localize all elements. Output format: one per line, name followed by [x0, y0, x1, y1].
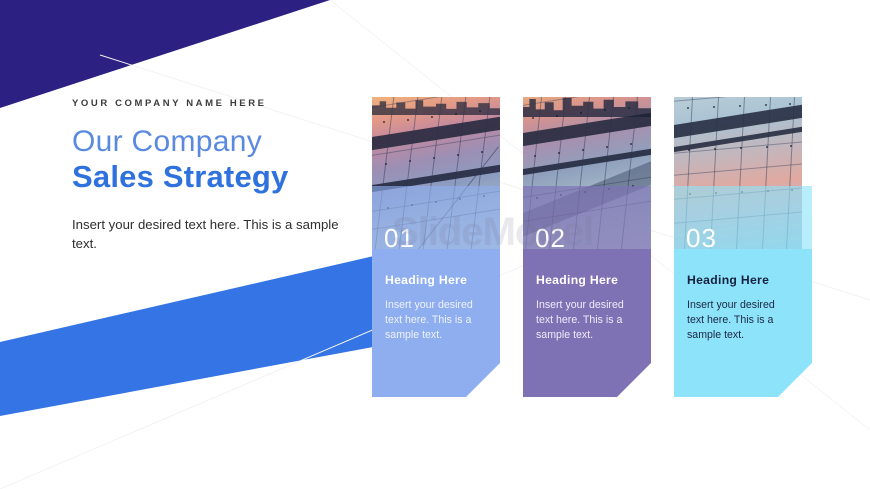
- card-03[interactable]: 03 Heading Here Insert your desired text…: [674, 97, 802, 397]
- cards-row: 01 Heading Here Insert your desired text…: [372, 97, 842, 397]
- card-01-number: 01: [384, 225, 415, 251]
- card-03-heading: Heading Here: [687, 273, 769, 287]
- card-02-number: 02: [535, 225, 566, 251]
- card-02-heading: Heading Here: [536, 273, 618, 287]
- card-02-text: Insert your desired text here. This is a…: [536, 298, 634, 343]
- card-03-number: 03: [686, 225, 717, 251]
- blue-diagonal-band: [0, 250, 400, 420]
- card-01-heading: Heading Here: [385, 273, 467, 287]
- eyebrow-company-name: YOUR COMPANY NAME HERE: [72, 98, 352, 109]
- page-title-line2: Sales Strategy: [72, 161, 352, 194]
- left-text-column: YOUR COMPANY NAME HERE Our Company Sales…: [72, 98, 352, 253]
- slide-canvas: YOUR COMPANY NAME HERE Our Company Sales…: [0, 0, 870, 489]
- card-01-text: Insert your desired text here. This is a…: [385, 298, 483, 343]
- intro-body-text: Insert your desired text here. This is a…: [72, 215, 352, 253]
- page-title-line1: Our Company: [72, 126, 352, 158]
- card-02[interactable]: 02 Heading Here Insert your desired text…: [523, 97, 651, 397]
- card-03-text: Insert your desired text here. This is a…: [687, 298, 787, 343]
- card-01[interactable]: 01 Heading Here Insert your desired text…: [372, 97, 500, 397]
